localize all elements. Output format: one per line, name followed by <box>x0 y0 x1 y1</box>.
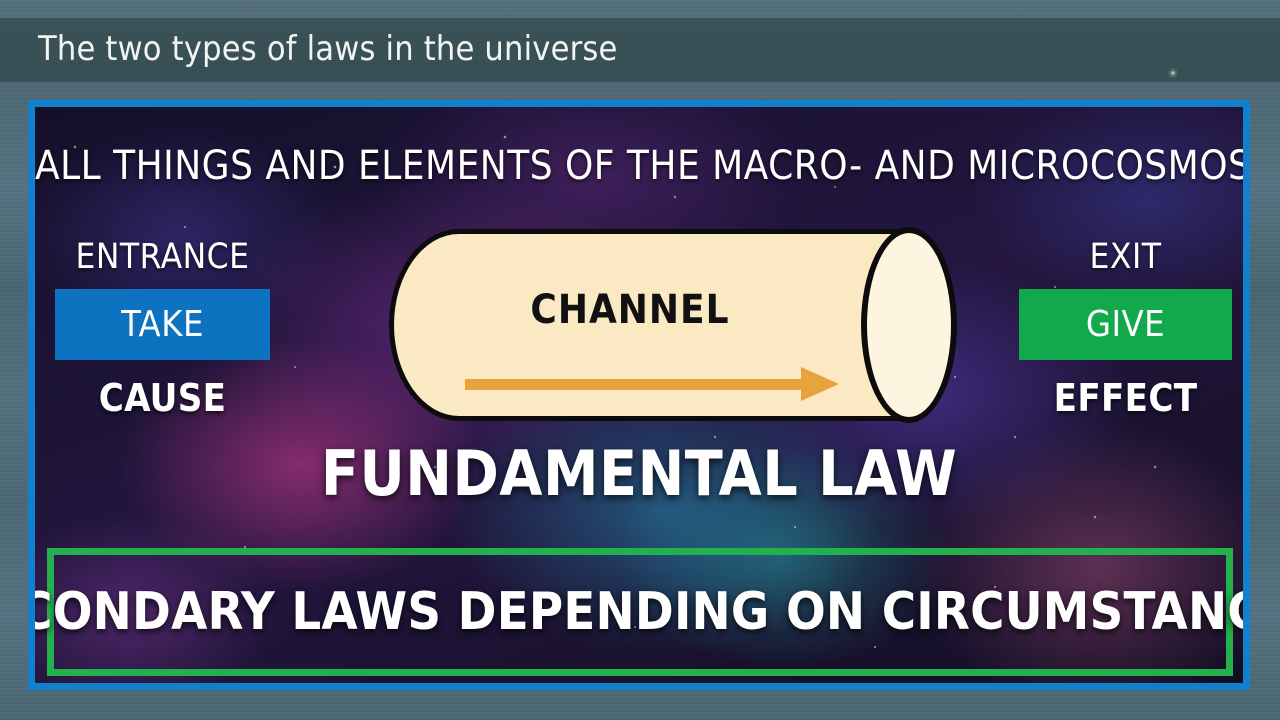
cause-label: CAUSE <box>55 376 270 420</box>
secondary-laws-box: SECONDARY LAWS DEPENDING ON CIRCUMSTANCE… <box>47 548 1233 676</box>
exit-column: EXIT GIVE EFFECT <box>1019 237 1232 420</box>
cylinder-end-cap <box>861 227 957 423</box>
secondary-laws-text: SECONDARY LAWS DEPENDING ON CIRCUMSTANCE… <box>28 582 1250 642</box>
arrow-right-icon <box>465 367 845 401</box>
slide-frame: ALL THINGS AND ELEMENTS OF THE MACRO- AN… <box>28 100 1250 690</box>
take-box[interactable]: TAKE <box>55 289 270 360</box>
fundamental-law-text: FUNDAMENTAL LAW <box>35 437 1243 510</box>
entrance-caption: ENTRANCE <box>55 237 270 277</box>
channel-label: CHANNEL <box>415 287 845 333</box>
page-title: The two types of laws in the universe <box>38 29 618 69</box>
give-box[interactable]: GIVE <box>1019 289 1232 360</box>
channel-cylinder: CHANNEL <box>375 225 935 425</box>
exit-caption: EXIT <box>1019 237 1232 277</box>
dust-speck-icon <box>1167 66 1179 80</box>
arrow-head <box>801 367 839 401</box>
headline-text: ALL THINGS AND ELEMENTS OF THE MACRO- AN… <box>35 143 1243 189</box>
arrow-shaft <box>465 379 805 390</box>
effect-label: EFFECT <box>1019 376 1232 420</box>
entrance-column: ENTRANCE TAKE CAUSE <box>55 237 270 420</box>
title-bar: The two types of laws in the universe <box>0 18 1280 82</box>
